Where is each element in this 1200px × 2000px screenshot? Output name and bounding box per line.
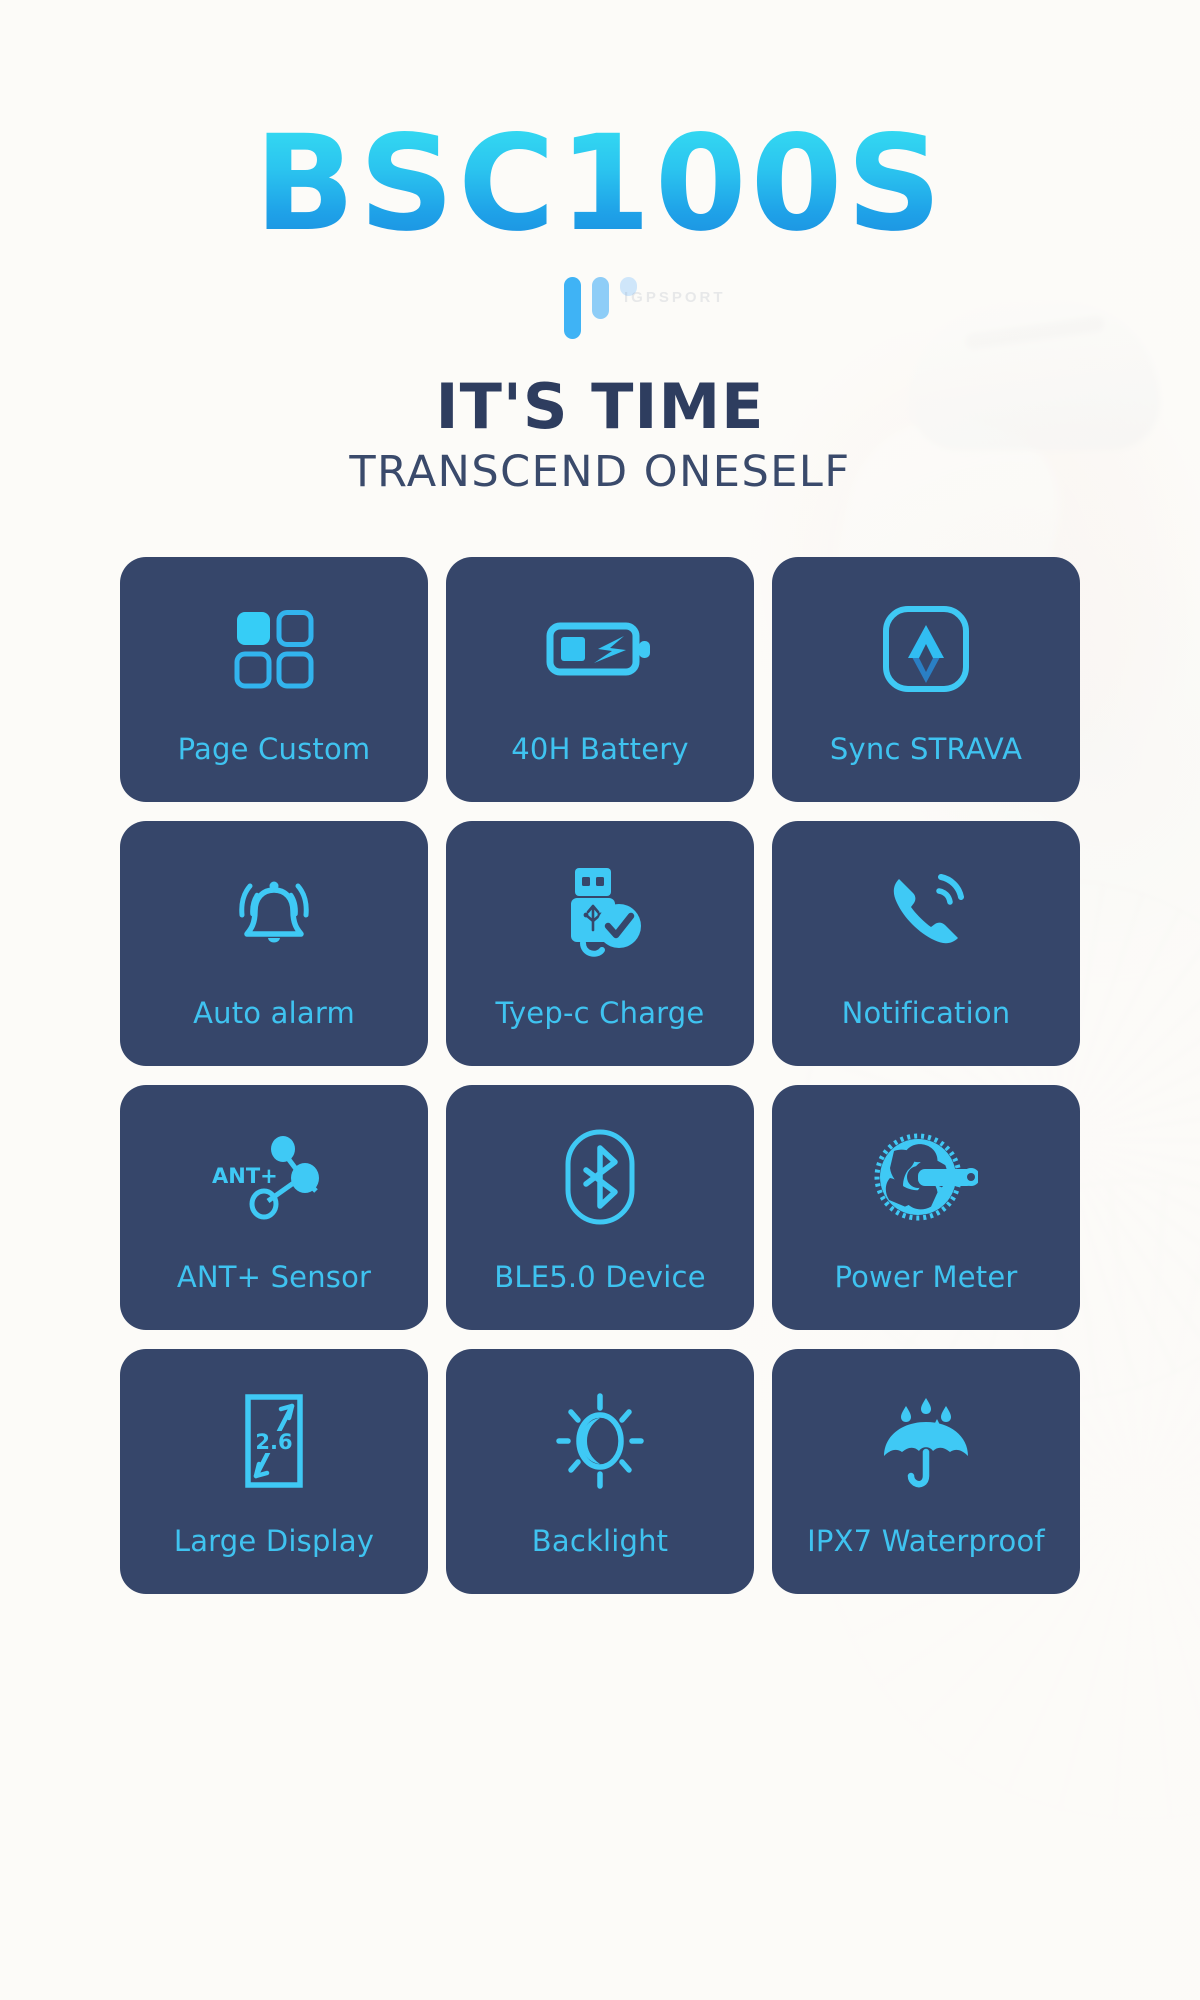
logo-bar-tall-icon [564, 277, 581, 339]
header: BSC100S IGPSPORT IT'S TIME TRANSCEND ONE… [0, 0, 1200, 497]
ant-plus-network-icon: ANT+ [120, 1129, 428, 1225]
display-size-text: 2.6 [255, 1430, 292, 1454]
feature-label: Page Custom [120, 732, 428, 766]
battery-charging-icon [446, 601, 754, 697]
feature-label: Power Meter [772, 1260, 1080, 1294]
feature-label: ANT+ Sensor [120, 1260, 428, 1294]
feature-card-page-custom[interactable]: Page Custom [120, 557, 428, 802]
feature-label: Large Display [120, 1524, 428, 1558]
brand-title: BSC100S [0, 122, 1200, 247]
usb-check-icon [446, 865, 754, 961]
feature-label: Notification [772, 996, 1080, 1030]
feature-card-waterproof[interactable]: IPX7 Waterproof [772, 1349, 1080, 1594]
grid-squares-icon [120, 601, 428, 697]
feature-label: Tyep-c Charge [446, 996, 754, 1030]
bluetooth-icon [446, 1129, 754, 1225]
feature-label: BLE5.0 Device [446, 1260, 754, 1294]
logo-bar-medium-icon [592, 277, 609, 319]
feature-card-ble-device[interactable]: BLE5.0 Device [446, 1085, 754, 1330]
strava-app-icon [772, 601, 1080, 697]
tagline-primary: IT'S TIME [0, 375, 1200, 438]
feature-grid: Page Custom 40H Battery [120, 557, 1080, 1594]
feature-card-large-display[interactable]: 2.6 Large Display [120, 1349, 428, 1594]
feature-label: Sync STRAVA [772, 732, 1080, 766]
feature-card-typec-charge[interactable]: Tyep-c Charge [446, 821, 754, 1066]
feature-label: 40H Battery [446, 732, 754, 766]
chainring-crank-icon [772, 1129, 1080, 1225]
feature-card-battery[interactable]: 40H Battery [446, 557, 754, 802]
feature-label: Backlight [446, 1524, 754, 1558]
logo-watermark-text: IGPSPORT [624, 289, 726, 306]
tagline-secondary: TRANSCEND ONESELF [0, 447, 1200, 497]
umbrella-rain-icon [772, 1393, 1080, 1489]
logo-mark: IGPSPORT [0, 277, 1200, 341]
feature-card-notification[interactable]: Notification [772, 821, 1080, 1066]
feature-label: IPX7 Waterproof [772, 1524, 1080, 1558]
feature-card-backlight[interactable]: Backlight [446, 1349, 754, 1594]
feature-card-power-meter[interactable]: Power Meter [772, 1085, 1080, 1330]
phone-ringing-icon [772, 865, 1080, 961]
feature-card-sync-strava[interactable]: Sync STRAVA [772, 557, 1080, 802]
feature-label: Auto alarm [120, 996, 428, 1030]
ant-plus-text: ANT+ [212, 1164, 278, 1188]
feature-card-auto-alarm[interactable]: Auto alarm [120, 821, 428, 1066]
feature-card-ant-plus-sensor[interactable]: ANT+ ANT+ Sensor [120, 1085, 428, 1330]
bell-alarm-icon [120, 865, 428, 961]
screen-diagonal-icon: 2.6 [120, 1393, 428, 1489]
sun-moon-icon [446, 1393, 754, 1489]
page-root: BSC100S IGPSPORT IT'S TIME TRANSCEND ONE… [0, 0, 1200, 1594]
